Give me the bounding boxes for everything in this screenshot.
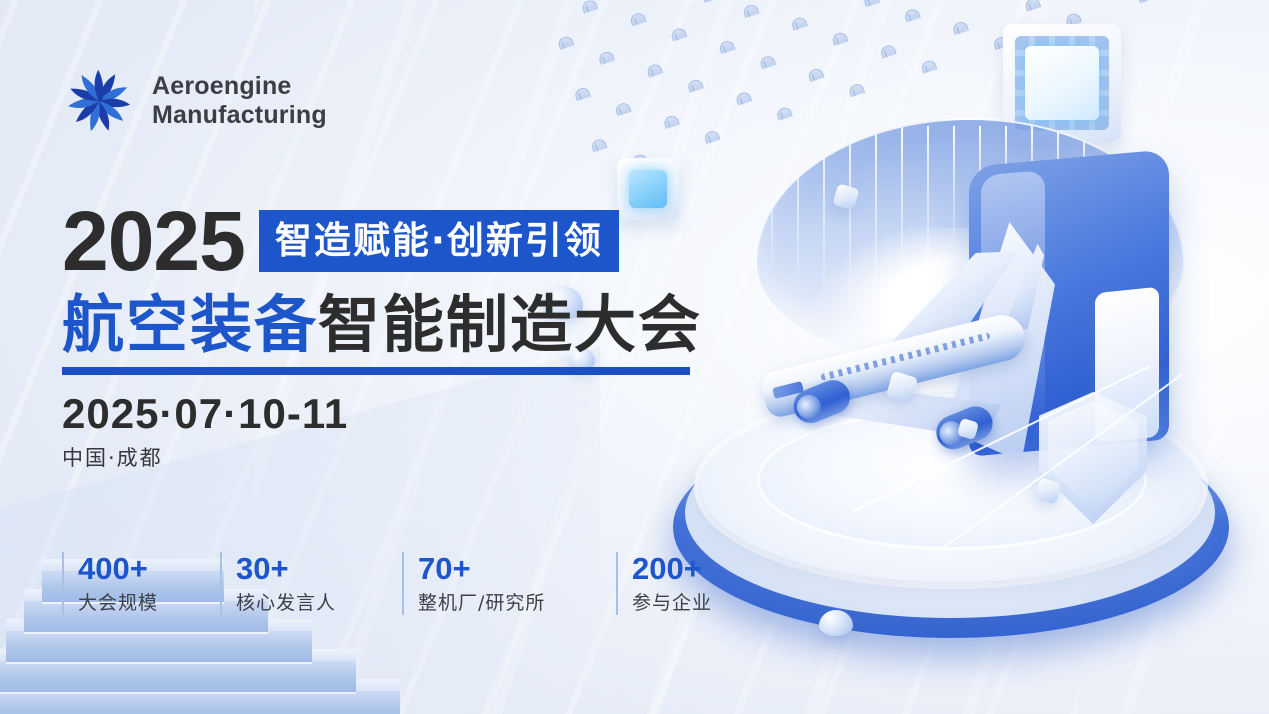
stat-label: 参与企业 [632,588,712,615]
event-city: 中国·成都 [62,442,163,472]
stat-item: 70+整机厂/研究所 [402,552,588,615]
logo-text: Aeroengine Manufacturing [152,72,327,130]
turbine-swirl-logo-icon [62,64,136,138]
stat-number: 400+ [78,552,158,586]
stat-item: 400+大会规模 [62,552,192,615]
year-text: 2025 [62,198,245,284]
main-title-blue: 航空装备 [62,288,318,361]
banner-content: Aeroengine Manufacturing 2025 智造赋能·创新引领 … [0,0,760,714]
logo-line-1: Aeroengine [152,72,327,101]
glass-droplet [819,610,853,636]
stat-number: 70+ [418,552,545,586]
stat-item: 200+参与企业 [616,552,766,615]
stat-number: 200+ [632,552,712,586]
title-block: 2025 智造赋能·创新引领 航空装备智能制造大会 [62,198,762,375]
conference-banner: Aeroengine Manufacturing 2025 智造赋能·创新引领 … [0,0,1269,714]
stat-label: 核心发言人 [236,588,336,615]
stat-item: 30+核心发言人 [220,552,374,615]
logo: Aeroengine Manufacturing [62,64,327,138]
stat-number: 30+ [236,552,336,586]
event-date: 2025·07·10-11 [62,390,348,438]
main-title: 航空装备智能制造大会 [62,292,762,357]
stat-label: 大会规模 [78,588,158,615]
stat-label: 整机厂/研究所 [418,588,545,615]
slogan-badge: 智造赋能·创新引领 [259,210,619,272]
logo-line-2: Manufacturing [152,101,327,130]
stats-row: 400+大会规模30+核心发言人70+整机厂/研究所200+参与企业 [62,552,794,615]
arc-slat [771,126,773,269]
main-title-dark: 智能制造大会 [318,288,702,361]
title-underline-bar [62,367,690,375]
year-row: 2025 智造赋能·创新引领 [62,198,762,284]
